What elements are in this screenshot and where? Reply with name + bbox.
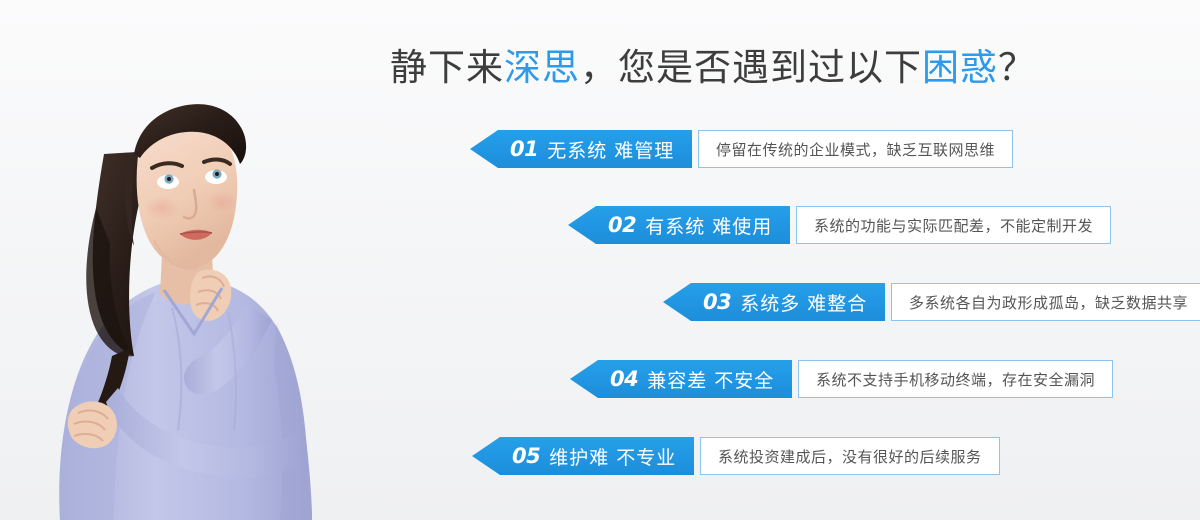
- tag-shadow-icon: [570, 398, 792, 404]
- item-title: 有系统 难使用: [645, 212, 772, 239]
- item-tag-04[interactable]: 04 兼容差 不安全: [570, 360, 792, 398]
- tag-shadow-icon: [470, 168, 692, 174]
- title-accent-1: 深思: [504, 46, 580, 89]
- item-description: 停留在传统的企业模式，缺乏互联网思维: [698, 130, 1013, 168]
- title-part-2: ，您是否遇到过以下: [580, 46, 922, 89]
- item-description: 多系统各自为政形成孤岛，缺乏数据共享: [891, 283, 1200, 321]
- list-item[interactable]: 01 无系统 难管理 停留在传统的企业模式，缺乏互联网思维: [470, 130, 1013, 168]
- item-description: 系统投资建成后，没有很好的后续服务: [700, 437, 1000, 475]
- title-accent-2: 困惑: [922, 46, 998, 89]
- item-number: 04: [610, 367, 638, 391]
- item-description: 系统不支持手机移动终端，存在安全漏洞: [798, 360, 1113, 398]
- tag-shadow-icon: [568, 244, 790, 250]
- item-title: 无系统 难管理: [547, 136, 674, 163]
- page-title: 静下来深思，您是否遇到过以下困惑？: [390, 42, 1070, 94]
- tag-shadow-icon: [472, 475, 694, 481]
- item-number: 03: [703, 290, 731, 314]
- list-item[interactable]: 02 有系统 难使用 系统的功能与实际匹配差，不能定制开发: [568, 206, 1111, 244]
- item-number: 02: [608, 213, 636, 237]
- item-title: 系统多 难整合: [740, 289, 867, 316]
- list-item[interactable]: 04 兼容差 不安全 系统不支持手机移动终端，存在安全漏洞: [570, 360, 1113, 398]
- item-title: 兼容差 不安全: [647, 366, 774, 393]
- list-item[interactable]: 03 系统多 难整合 多系统各自为政形成孤岛，缺乏数据共享: [663, 283, 1200, 321]
- item-tag-05[interactable]: 05 维护难 不专业: [472, 437, 694, 475]
- item-title: 维护难 不专业: [549, 443, 676, 470]
- thinking-woman-photo: [22, 58, 322, 520]
- item-tag-03[interactable]: 03 系统多 难整合: [663, 283, 885, 321]
- item-number: 05: [512, 444, 540, 468]
- item-description: 系统的功能与实际匹配差，不能定制开发: [796, 206, 1111, 244]
- tag-shadow-icon: [663, 321, 885, 327]
- item-tag-02[interactable]: 02 有系统 难使用: [568, 206, 790, 244]
- item-number: 01: [510, 137, 538, 161]
- item-tag-01[interactable]: 01 无系统 难管理: [470, 130, 692, 168]
- promo-banner: 静下来深思，您是否遇到过以下困惑？ 01 无系统 难管理 停留在传统的企业模式，…: [0, 0, 1200, 520]
- title-part-1: 静下来: [390, 46, 504, 89]
- title-part-3: ？: [998, 46, 1036, 89]
- list-item[interactable]: 05 维护难 不专业 系统投资建成后，没有很好的后续服务: [472, 437, 1000, 475]
